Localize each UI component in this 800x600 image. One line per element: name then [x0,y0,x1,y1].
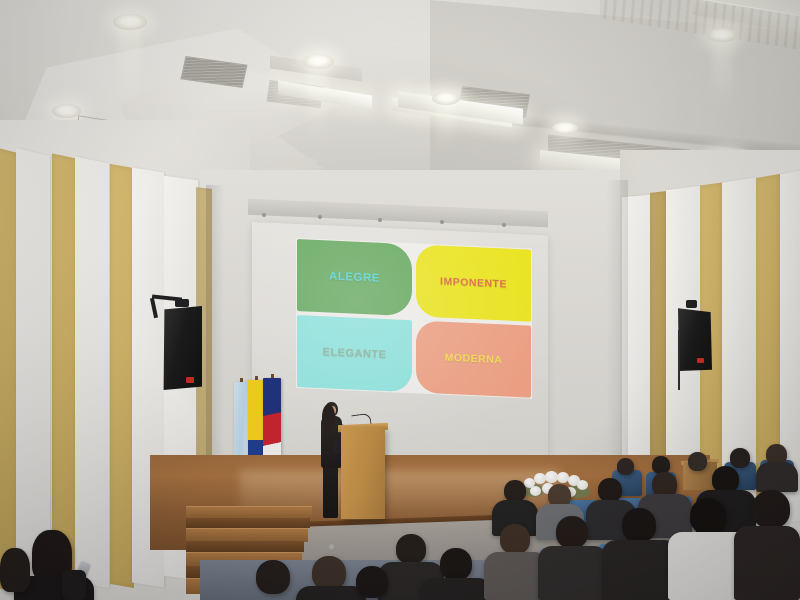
audience-head-f1 [396,534,426,564]
audience-body-f4 [538,546,608,600]
speaker-right [678,307,712,371]
audience-head-m3 [598,478,622,502]
slide-label-elegante: ELEGANTE [323,346,387,361]
valance-bolt-2 [318,215,322,219]
flower-blossom-7 [530,486,541,496]
step-riser-1 [186,518,310,528]
speaker-logo-right [697,358,704,363]
slide-label-moderna: MODERNA [445,352,503,367]
audience-body-f5 [602,540,678,600]
presentation-slide: ALEGRE IMPONENTE ELEGANTE MODERNA [296,238,532,399]
speaker-cable-right [678,330,680,390]
valance-bolt-4 [440,220,444,224]
presenter-hair [322,404,335,430]
audience-head-c1 [256,560,290,594]
downlight-4 [432,92,460,105]
slide-quadrant-bottom-right: MODERNA [416,320,531,397]
downlight-1 [113,14,147,30]
audience-head-l2 [0,548,30,592]
audience-body-f2 [420,578,492,600]
audience-head-f2 [440,548,472,580]
audience-head-b3 [688,452,707,471]
downlight-2 [303,54,334,69]
audience-body-b5 [756,462,798,492]
audience-head-b4 [730,448,750,468]
wall-panel-tan-l2 [52,153,77,588]
valance-bolt-1 [262,213,266,217]
step-tread-2 [186,528,308,542]
wall-panel-white-l1 [16,148,50,596]
audience-head-m1 [504,480,526,502]
slide-quadrant-top-right: IMPONENTE [416,244,531,321]
projection-screen: ALEGRE IMPONENTE ELEGANTE MODERNA [252,222,548,485]
flower-blossom-6 [577,480,588,490]
light-beam-1 [118,20,140,112]
presenter-legs [323,464,338,518]
audience-head-f6 [690,498,726,534]
downlight-3 [52,104,81,118]
auditorium-photo: ALEGRE IMPONENTE ELEGANTE MODERNA [0,0,800,600]
speaker-left [162,306,202,390]
slide-quadrant-bottom-left: ELEGANTE [297,315,412,392]
slide-label-alegre: ALEGRE [329,270,380,284]
audience-head-c3 [356,566,388,598]
audience-head-f4 [556,516,588,548]
audience-head-b1 [617,458,634,475]
speaker-yoke-left [175,299,189,307]
audience-head-f3 [500,524,530,554]
speaker-logo-left [186,377,194,383]
slide-quadrant-top-left: ALEGRE [297,239,412,316]
podium [341,427,385,519]
audience-head-f7 [752,490,790,528]
wall-panel-white-l2 [75,157,109,589]
downlight-6 [552,122,578,134]
audience-head-f5 [622,508,656,542]
valance-bolt-5 [502,223,506,227]
audience-head-m5 [712,466,739,493]
wall-panel-tan-l3 [110,164,134,588]
valance-bolt-3 [378,218,382,222]
speaker-yoke-right [686,300,697,308]
audience-body-f7 [734,526,800,600]
downlight-5 [707,28,737,42]
audience-arm-l1 [62,570,86,600]
audience-head-c2 [312,556,346,590]
step-riser-2 [186,541,304,552]
slide-label-imponente: IMPONENTE [440,276,507,291]
